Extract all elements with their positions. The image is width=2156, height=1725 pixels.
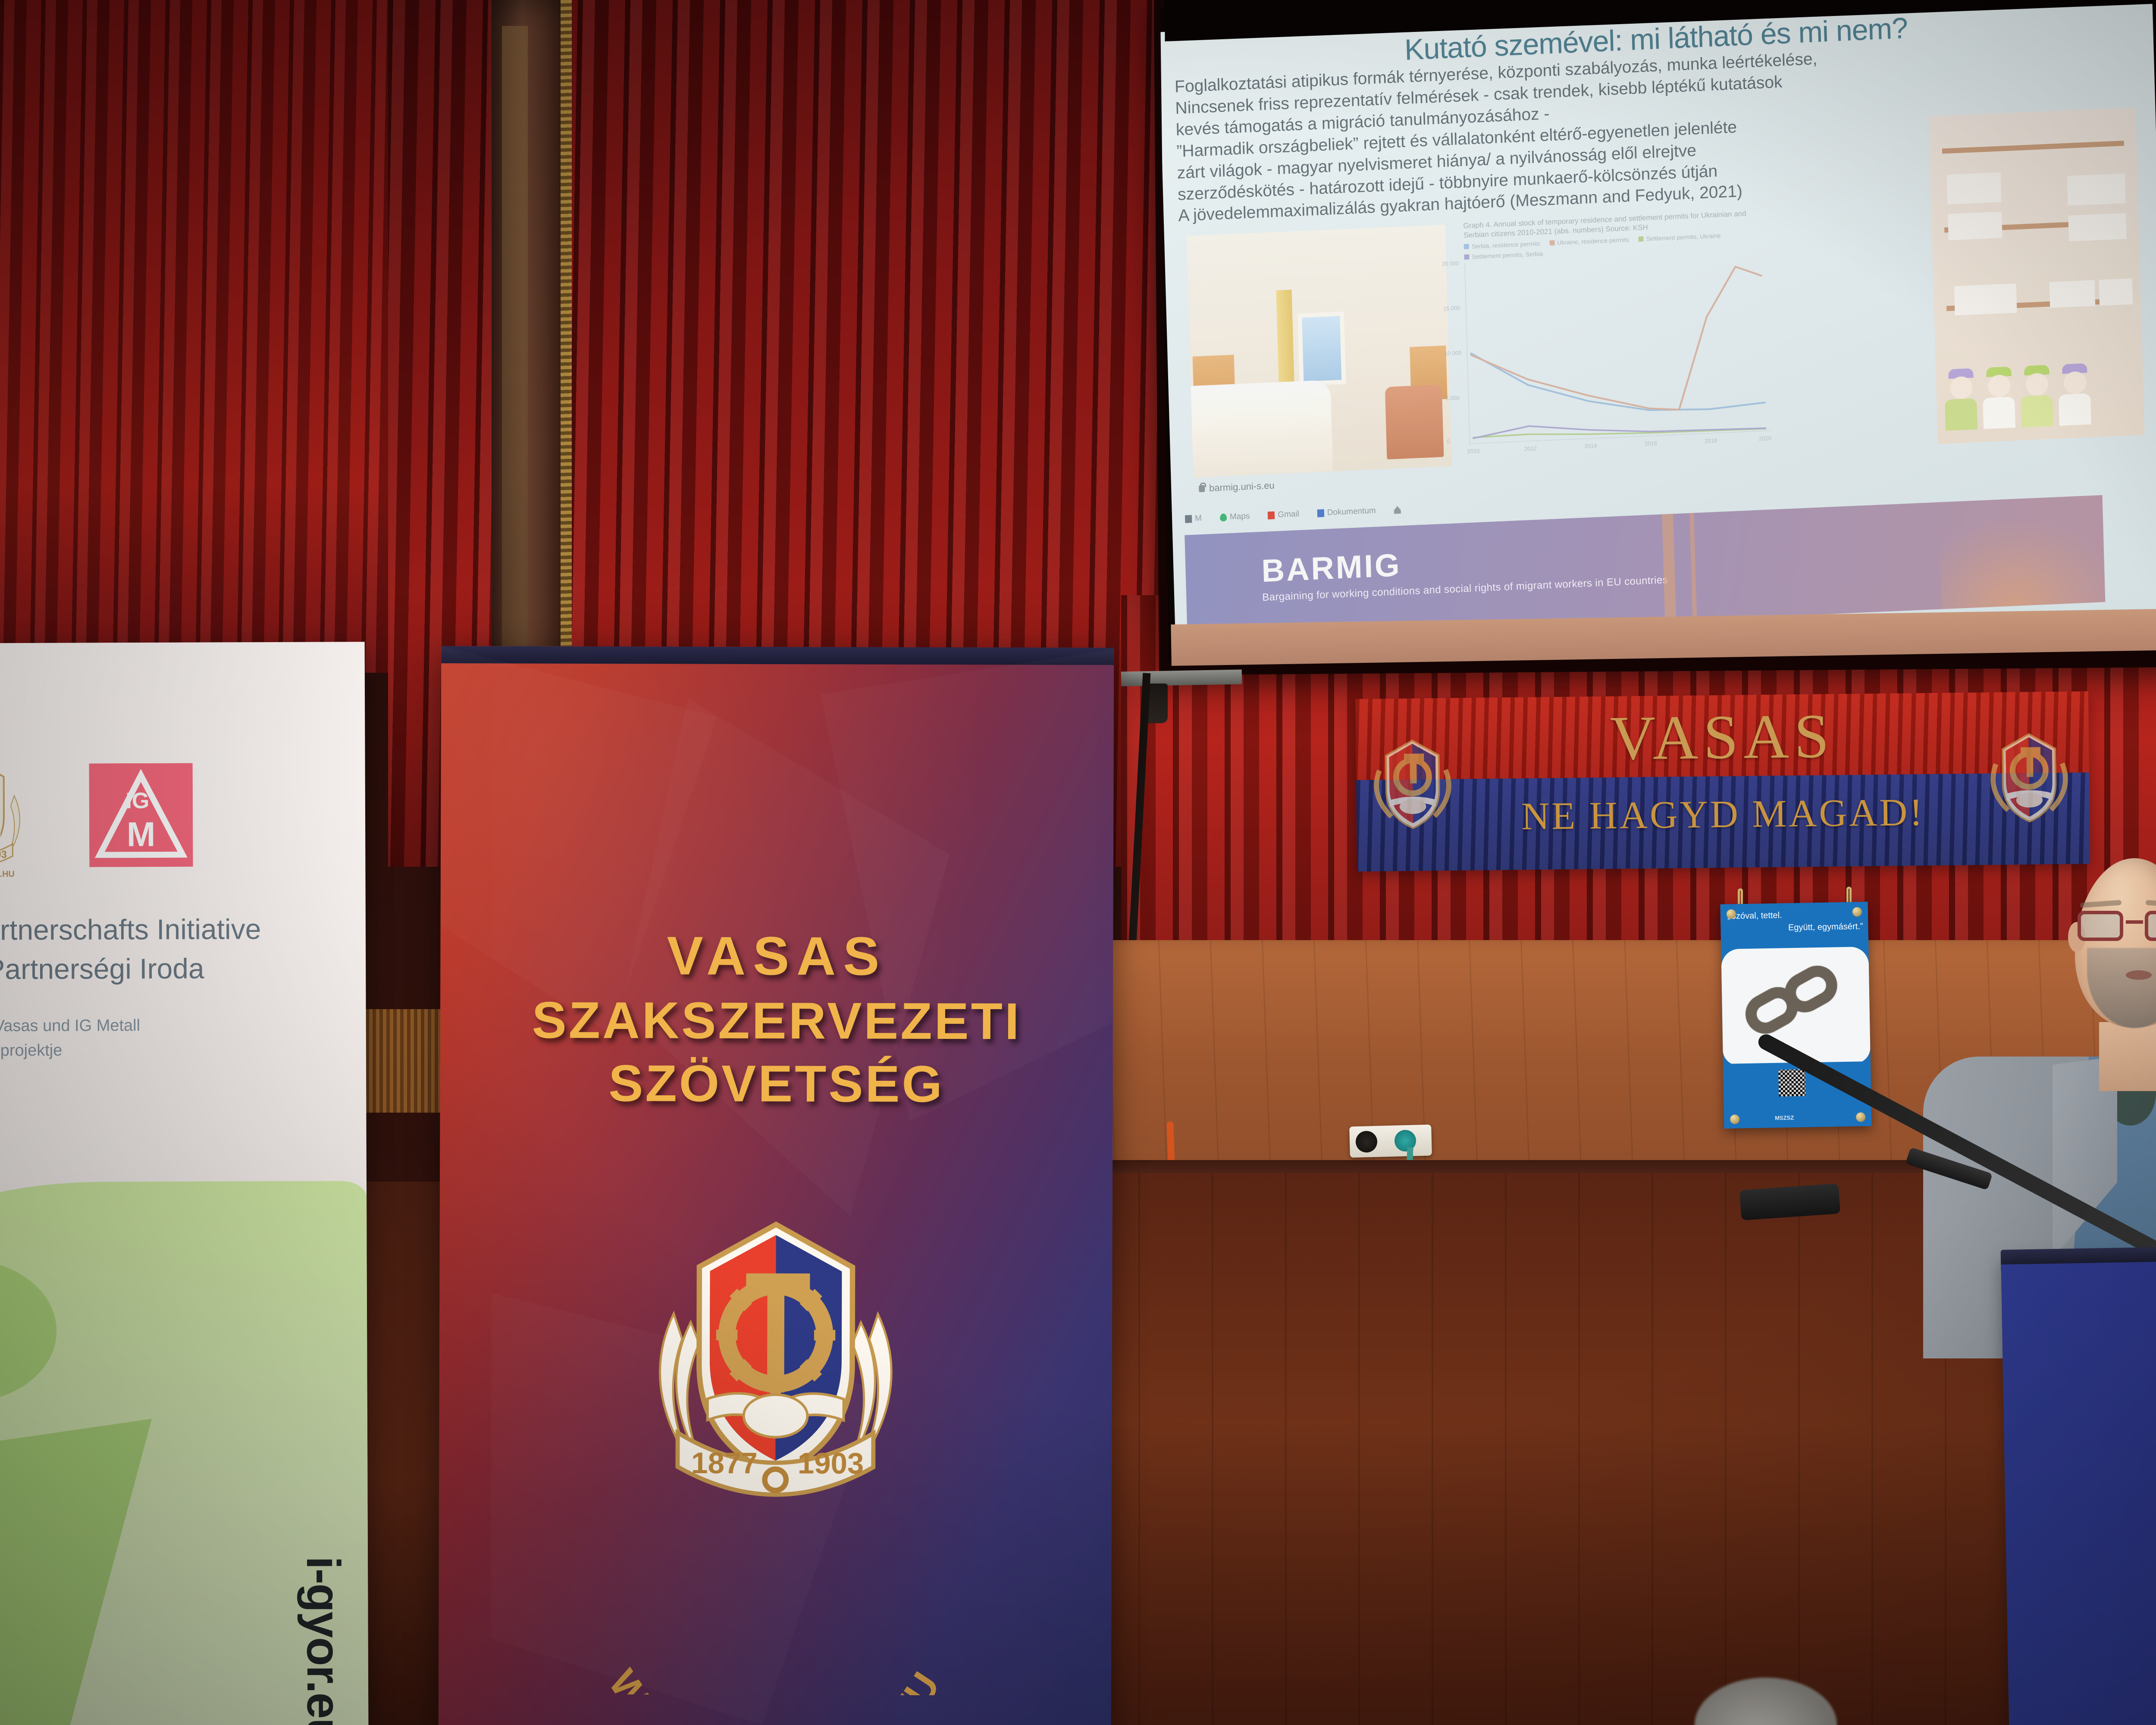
photo-armchair <box>1385 385 1444 460</box>
rollup-heading-hu: ...nális Partnerségi Iroda <box>0 948 368 989</box>
photo-source-url: barmig.uni-s.eu <box>1199 480 1275 495</box>
rollup-green-field: i-gyor.eu <box>0 1181 368 1725</box>
power-strip-icon <box>1349 1125 1432 1158</box>
rollup-logo-row: 1877 1903 WWW.VASASOK.HU IG M <box>0 750 193 881</box>
illus-people-group <box>1944 363 2093 431</box>
emblem-year-left: 1877 <box>691 1446 758 1480</box>
rollup-sub-de: ...rojekt von Vasas und IG Metall <box>0 1013 368 1039</box>
barmig-shadow <box>1939 511 2106 622</box>
photo-url-text: barmig.uni-s.eu <box>1209 480 1275 494</box>
illus-bunk <box>2068 213 2127 242</box>
vasas-rollup-banner: VASAS SZAKSZERVEZETI SZÖVETSÉG <box>439 646 1114 1725</box>
vasas-emblem-icon: 1877 1903 WWW.VASASOK.HU <box>0 751 34 881</box>
legend-entry: Settlement permits, Ukraine <box>1639 232 1721 242</box>
person-pictogram-icon <box>0 1259 153 1725</box>
x-tick: 2014 <box>1584 442 1597 449</box>
legend-entry: Serbia, residence permits <box>1464 240 1540 250</box>
rollup-title: VASAS SZAKSZERVEZETI SZÖVETSÉG <box>440 922 1113 1117</box>
illus-person <box>1944 368 1979 430</box>
browser-bookmarks-bar[interactable]: M Maps Gmail Dokumentum <box>1185 505 1401 524</box>
gold-frame-strip <box>561 0 572 716</box>
slide-line-chart: Graph 4. Annual stock of temporary resid… <box>1463 208 1771 467</box>
chart-plot-area: 20 000 15 000 10 000 5 000 0 2010 2012 <box>1464 250 1771 444</box>
y-tick: 15 000 <box>1443 304 1460 312</box>
speaker-beard <box>2087 948 2156 1028</box>
illus-person <box>2020 365 2055 427</box>
podium-lectern <box>2001 1254 2156 1725</box>
speaker-mouth <box>2126 970 2152 980</box>
svg-text:M: M <box>127 815 156 853</box>
rollup-heading: ...ale Partnerschafts Initiative ...náli… <box>0 909 368 989</box>
barmig-stripe <box>1662 514 1676 621</box>
photo-window <box>1297 311 1346 386</box>
presentation-slide: Kutató szemével: mi látható és mi nem? F… <box>1160 0 2156 653</box>
photo-bed <box>1187 379 1333 477</box>
bookmark-item-maps[interactable]: Maps <box>1220 511 1250 522</box>
illus-bunk <box>2049 280 2095 308</box>
rollup-title-line-1: VASAS <box>440 922 1113 990</box>
y-tick: 0 <box>1447 438 1450 445</box>
legend-entry: Ukraine, residence permits <box>1549 236 1629 246</box>
left-wall-pillar <box>492 0 569 712</box>
speaker-neck <box>2099 1022 2156 1091</box>
lock-icon <box>1199 485 1205 492</box>
slide-media-row: barmig.uni-s.eu Graph 4. Annual stock of… <box>1179 192 2150 497</box>
bookmark-item-docs[interactable]: Dokumentum <box>1317 506 1376 518</box>
bookmark-item-home[interactable] <box>1394 506 1401 514</box>
x-tick: 2018 <box>1705 437 1717 444</box>
y-tick: 5 000 <box>1445 395 1460 401</box>
legend-entry: Settlement permits, Serbia <box>1464 250 1543 260</box>
screen-mount-bracket <box>1121 670 1242 687</box>
bookmark-item-gmail[interactable]: Gmail <box>1268 509 1299 520</box>
illus-person <box>1982 366 2017 429</box>
illus-bunk <box>1948 212 2002 240</box>
svg-text:1903: 1903 <box>0 849 7 860</box>
ig-metall-logo-icon: IG M <box>89 763 193 867</box>
dormitory-room-photo <box>1187 225 1452 477</box>
x-tick: 2020 <box>1759 435 1771 442</box>
rollup-title-line-2: SZAKSZERVEZETI <box>440 988 1113 1053</box>
rollup-sub-hu: ...etall közös projektje <box>0 1037 368 1063</box>
x-tick: 2010 <box>1467 448 1479 455</box>
svg-text:WWW.VASASOK.HU: WWW.VASASOK.HU <box>0 869 15 879</box>
projection-screen: Kutató szemével: mi látható és mi nem? F… <box>1160 0 2156 662</box>
x-tick: 2012 <box>1524 445 1537 452</box>
illus-bunk <box>2067 173 2126 205</box>
vasas-emblem-icon: 1877 1903 <box>624 1203 927 1523</box>
illus-bunk <box>2099 278 2133 306</box>
rollup-subheading: ...rojekt von Vasas und IG Metall ...eta… <box>0 1013 368 1063</box>
rollup-title-line-3: SZÖVETSÉG <box>440 1051 1112 1116</box>
illus-shelf <box>1942 141 2124 154</box>
svg-text:IG: IG <box>125 788 149 813</box>
illus-bunk <box>1947 172 2002 204</box>
rollup-heading-de: ...ale Partnerschafts Initiative <box>0 909 368 950</box>
x-tick: 2016 <box>1645 440 1657 447</box>
partnership-rollup-banner: 1877 1903 WWW.VASASOK.HU IG M ...ale Par… <box>0 642 368 1725</box>
illus-bunk <box>1954 283 2017 316</box>
y-tick: 10 000 <box>1444 349 1461 357</box>
emblem-year-right: 1903 <box>798 1446 864 1480</box>
vasas-emblem-icon <box>2146 1429 2156 1725</box>
rollup-facet-pattern <box>439 646 1114 1725</box>
conference-hall-photo: Kutató szemével: mi látható és mi nem? F… <box>0 0 2156 1725</box>
vasas-emblem-icon <box>1363 730 1463 838</box>
worker-dormitory-illustration <box>1929 107 2145 444</box>
rollup-url-arc: WWW.VASASOK.HU <box>559 1565 991 1696</box>
y-tick: 20 000 <box>1442 260 1459 267</box>
rollup-website-url: i-gyor.eu <box>296 1556 351 1725</box>
bookmark-item[interactable]: M <box>1185 514 1202 524</box>
illus-person <box>2058 363 2093 426</box>
rollup-url-text: WWW.VASASOK.HU <box>600 1662 949 1695</box>
svg-text:WWW.VASASOK.HU: WWW.VASASOK.HU <box>600 1662 949 1695</box>
vasas-emblem-icon <box>1979 723 2080 832</box>
eyeglasses-icon <box>2075 911 2156 943</box>
